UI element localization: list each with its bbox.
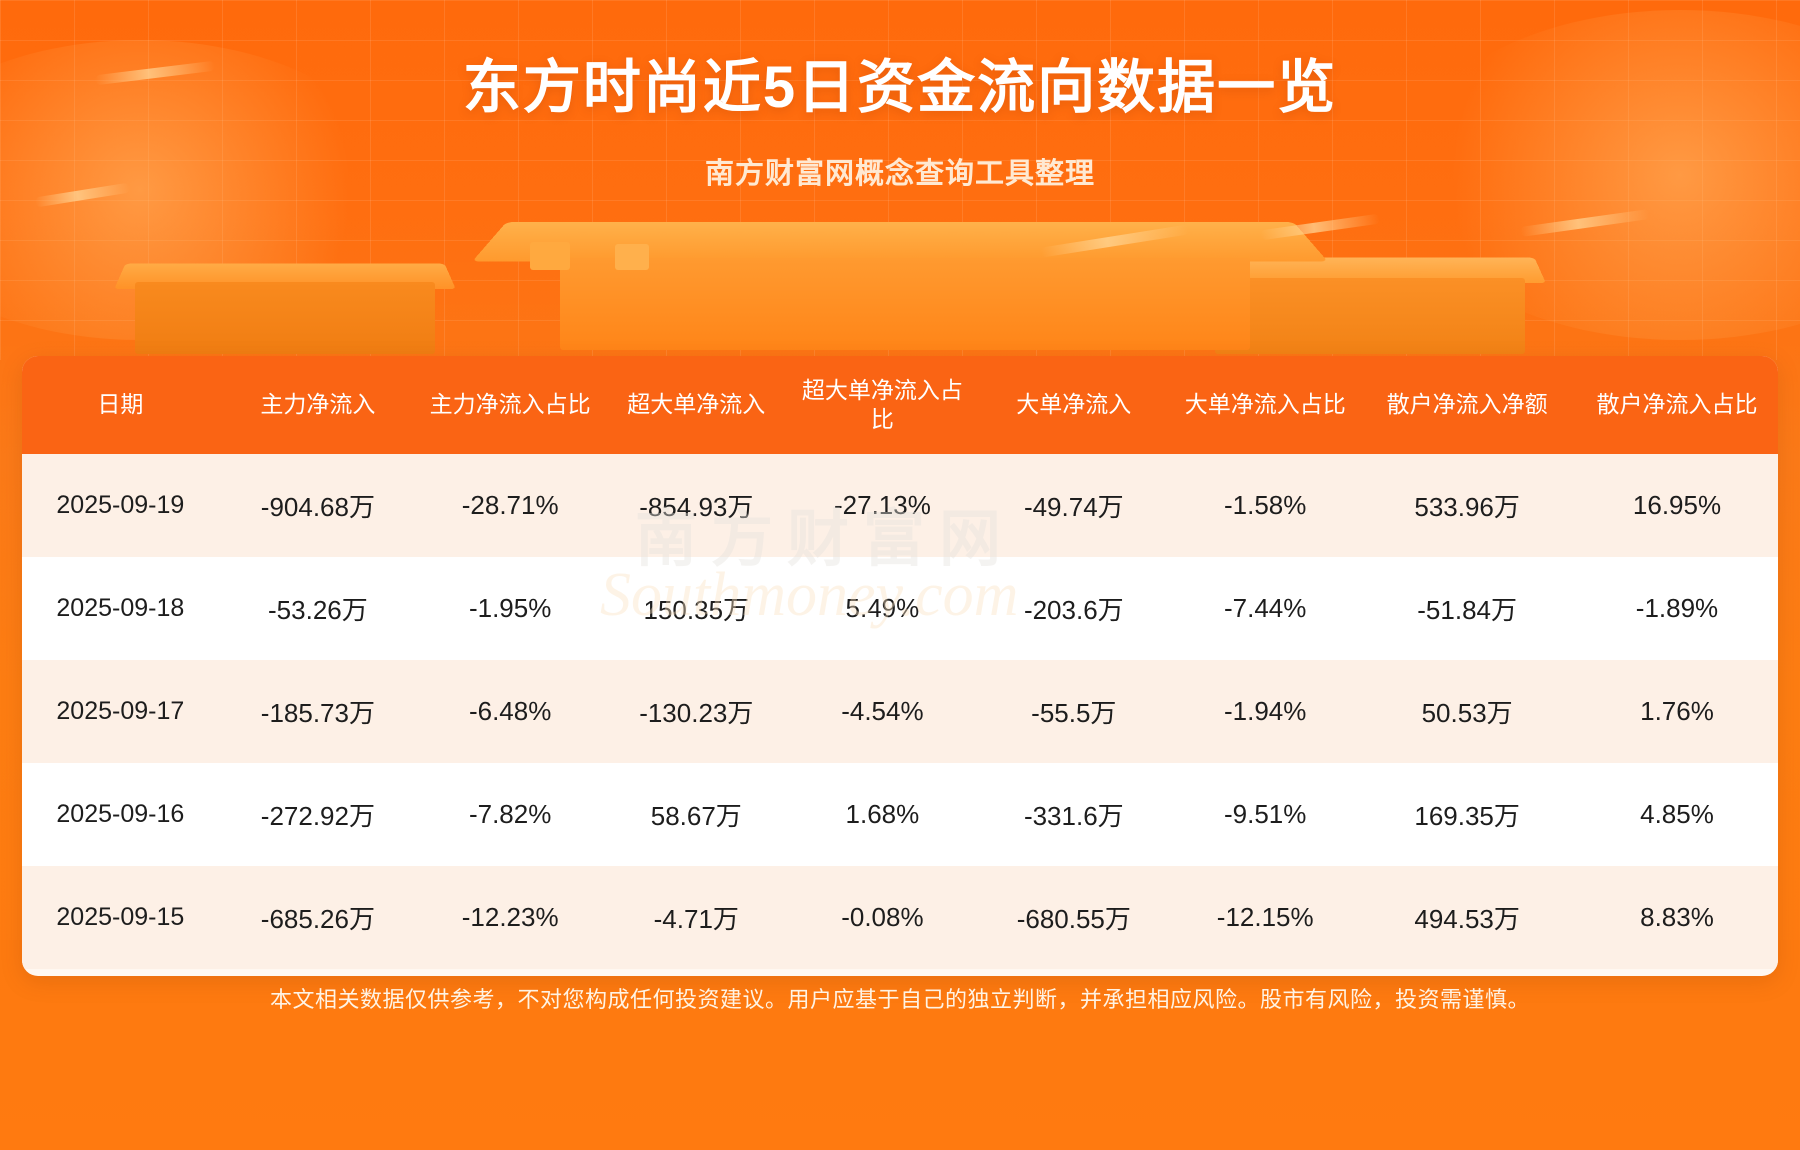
- cell-main-net-inflow: -53.26万: [219, 557, 417, 660]
- cell-super-large-net-inflow-ratio: 1.68%: [789, 763, 975, 866]
- cell-super-large-net-inflow: -854.93万: [603, 454, 789, 557]
- fund-flow-table-card: 日期 主力净流入 主力净流入占比 超大单净流入 超大单净流入占比 大单净流入 大…: [22, 356, 1778, 976]
- podium-center-top: [472, 222, 1327, 261]
- cell-date: 2025-09-17: [22, 660, 219, 763]
- cell-super-large-net-inflow-ratio: -0.08%: [789, 866, 975, 969]
- cell-main-net-inflow-ratio: -12.23%: [417, 866, 603, 969]
- column-header-large-net-inflow: 大单净流入: [975, 356, 1172, 454]
- cell-retail-net-inflow-amount: 50.53万: [1358, 660, 1576, 763]
- cell-retail-net-inflow-amount: 533.96万: [1358, 454, 1576, 557]
- podium-block-b: [615, 244, 649, 270]
- cell-super-large-net-inflow: -130.23万: [603, 660, 789, 763]
- table-body: 2025-09-19 -904.68万 -28.71% -854.93万 -27…: [22, 454, 1778, 969]
- light-streak-5: [1520, 209, 1650, 237]
- cell-super-large-net-inflow-ratio: -27.13%: [789, 454, 975, 557]
- cell-main-net-inflow: -185.73万: [219, 660, 417, 763]
- cell-large-net-inflow: -680.55万: [975, 866, 1172, 969]
- podium-center-front: [560, 258, 1250, 350]
- light-streak-3: [1040, 224, 1190, 257]
- cell-retail-net-inflow-ratio: 16.95%: [1576, 454, 1778, 557]
- column-header-date: 日期: [22, 356, 219, 454]
- table-row: 2025-09-18 -53.26万 -1.95% 150.35万 5.49% …: [22, 557, 1778, 660]
- cell-date: 2025-09-18: [22, 557, 219, 660]
- table-header-row: 日期 主力净流入 主力净流入占比 超大单净流入 超大单净流入占比 大单净流入 大…: [22, 356, 1778, 454]
- table-row: 2025-09-16 -272.92万 -7.82% 58.67万 1.68% …: [22, 763, 1778, 866]
- fund-flow-table: 日期 主力净流入 主力净流入占比 超大单净流入 超大单净流入占比 大单净流入 大…: [22, 356, 1778, 969]
- cell-main-net-inflow-ratio: -1.95%: [417, 557, 603, 660]
- cell-retail-net-inflow-ratio: 8.83%: [1576, 866, 1778, 969]
- podium-right-top: [1194, 258, 1546, 283]
- cell-retail-net-inflow-ratio: 1.76%: [1576, 660, 1778, 763]
- table-row: 2025-09-15 -685.26万 -12.23% -4.71万 -0.08…: [22, 866, 1778, 969]
- cell-large-net-inflow-ratio: -1.94%: [1172, 660, 1358, 763]
- cell-main-net-inflow: -904.68万: [219, 454, 417, 557]
- cell-large-net-inflow: -49.74万: [975, 454, 1172, 557]
- cell-retail-net-inflow-ratio: 4.85%: [1576, 763, 1778, 866]
- cell-large-net-inflow-ratio: -1.58%: [1172, 454, 1358, 557]
- podium-left-front: [135, 282, 435, 354]
- podium-decoration: [0, 196, 1800, 356]
- column-header-main-net-inflow-ratio: 主力净流入占比: [417, 356, 603, 454]
- cell-retail-net-inflow-amount: 494.53万: [1358, 866, 1576, 969]
- page-title: 东方时尚近5日资金流向数据一览: [0, 40, 1800, 124]
- table-row: 2025-09-17 -185.73万 -6.48% -130.23万 -4.5…: [22, 660, 1778, 763]
- cell-super-large-net-inflow-ratio: -4.54%: [789, 660, 975, 763]
- cell-retail-net-inflow-ratio: -1.89%: [1576, 557, 1778, 660]
- cell-retail-net-inflow-amount: -51.84万: [1358, 557, 1576, 660]
- cell-large-net-inflow: -55.5万: [975, 660, 1172, 763]
- cell-super-large-net-inflow-ratio: 5.49%: [789, 557, 975, 660]
- podium-right-front: [1215, 278, 1525, 354]
- cell-date: 2025-09-15: [22, 866, 219, 969]
- cell-super-large-net-inflow: 58.67万: [603, 763, 789, 866]
- disclaimer-text: 本文相关数据仅供参考，不对您构成任何投资建议。用户应基于自己的独立判断，并承担相…: [0, 982, 1800, 1014]
- cell-main-net-inflow-ratio: -7.82%: [417, 763, 603, 866]
- podium-left-top: [114, 264, 456, 289]
- cell-large-net-inflow-ratio: -7.44%: [1172, 557, 1358, 660]
- page-subtitle: 南方财富网概念查询工具整理: [0, 150, 1800, 192]
- light-streak-4: [1260, 214, 1380, 241]
- column-header-super-large-net-inflow-ratio: 超大单净流入占比: [789, 356, 975, 454]
- cell-large-net-inflow: -203.6万: [975, 557, 1172, 660]
- cell-retail-net-inflow-amount: 169.35万: [1358, 763, 1576, 866]
- column-header-large-net-inflow-ratio: 大单净流入占比: [1172, 356, 1358, 454]
- cell-large-net-inflow: -331.6万: [975, 763, 1172, 866]
- column-header-retail-net-inflow-ratio: 散户净流入占比: [1576, 356, 1778, 454]
- cell-large-net-inflow-ratio: -12.15%: [1172, 866, 1358, 969]
- column-header-retail-net-inflow-amount: 散户净流入净额: [1358, 356, 1576, 454]
- cell-super-large-net-inflow: -4.71万: [603, 866, 789, 969]
- cell-date: 2025-09-19: [22, 454, 219, 557]
- cell-large-net-inflow-ratio: -9.51%: [1172, 763, 1358, 866]
- column-header-super-large-net-inflow: 超大单净流入: [603, 356, 789, 454]
- cell-main-net-inflow-ratio: -28.71%: [417, 454, 603, 557]
- cell-main-net-inflow: -685.26万: [219, 866, 417, 969]
- cell-main-net-inflow: -272.92万: [219, 763, 417, 866]
- podium-block-a: [530, 242, 570, 270]
- cell-super-large-net-inflow: 150.35万: [603, 557, 789, 660]
- cell-main-net-inflow-ratio: -6.48%: [417, 660, 603, 763]
- cell-date: 2025-09-16: [22, 763, 219, 866]
- column-header-main-net-inflow: 主力净流入: [219, 356, 417, 454]
- table-row: 2025-09-19 -904.68万 -28.71% -854.93万 -27…: [22, 454, 1778, 557]
